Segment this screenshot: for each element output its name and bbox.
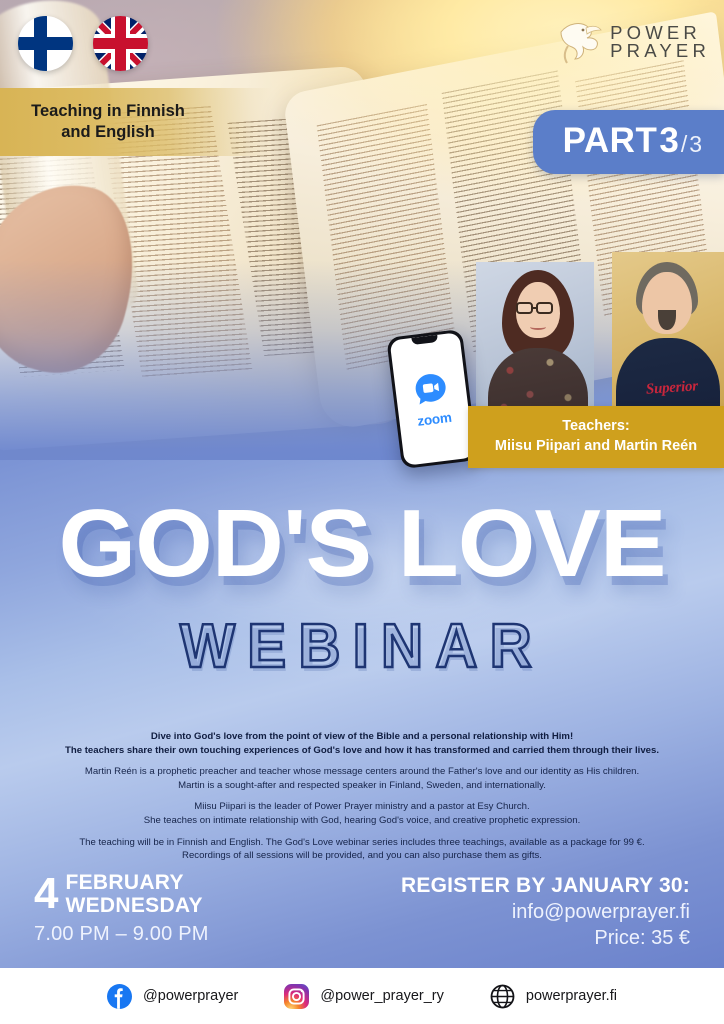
finland-flag-icon bbox=[18, 16, 73, 71]
part-badge-total: 3 bbox=[689, 131, 702, 158]
power-prayer-logo: POWER PRAYER bbox=[552, 16, 710, 68]
desc-p3-line2: She teaches on intimate relationship wit… bbox=[144, 815, 580, 826]
teacher-photo-martin: Superior bbox=[612, 252, 724, 422]
dove-icon bbox=[552, 16, 604, 68]
part-badge-number: 3 bbox=[659, 121, 678, 161]
footer-item-instagram[interactable]: @power_prayer_ry bbox=[284, 984, 444, 1009]
desc-p2-line2: Martin is a sought-after and respected s… bbox=[178, 780, 546, 791]
zoom-video-icon bbox=[412, 370, 450, 408]
logo-line-2: PRAYER bbox=[610, 42, 710, 61]
glasses-right-lens bbox=[536, 302, 553, 314]
teachers-banner-names: Miisu Piipari and Martin Reén bbox=[495, 437, 697, 457]
uk-flag-icon bbox=[93, 16, 148, 71]
event-info-row: 4 FEBRUARY WEDNESDAY 7.00 PM – 9.00 PM R… bbox=[0, 872, 724, 954]
event-day-number: 4 bbox=[34, 875, 58, 913]
instagram-icon bbox=[284, 984, 309, 1009]
power-prayer-wordmark: POWER PRAYER bbox=[610, 24, 710, 61]
desc-p3-line1: Miisu Piipari is the leader of Power Pra… bbox=[194, 801, 529, 812]
zoom-wordmark: zoom bbox=[416, 409, 452, 428]
description-paragraph-3: Miisu Piipari is the leader of Power Pra… bbox=[42, 800, 682, 827]
event-time: 7.00 PM – 9.00 PM bbox=[34, 923, 209, 946]
teaching-language-label: Teaching in Finnish and English bbox=[18, 101, 198, 143]
facebook-icon bbox=[107, 984, 132, 1009]
desc-p4-line2: Recordings of all sessions will be provi… bbox=[182, 850, 542, 861]
description-paragraph-4: The teaching will be in Finnish and Engl… bbox=[42, 836, 682, 863]
registration-deadline: REGISTER BY JANUARY 30: bbox=[401, 872, 690, 899]
language-flags bbox=[18, 16, 148, 71]
registration-price: Price: 35 € bbox=[401, 925, 690, 951]
glasses-left-lens bbox=[516, 302, 533, 314]
teacher-photo-miisu bbox=[476, 262, 594, 422]
webinar-poster: Teaching in Finnish and English POWER PR… bbox=[0, 0, 724, 1024]
part-badge-label: PART bbox=[563, 121, 658, 161]
desc-p4-line1: The teaching will be in Finnish and Engl… bbox=[79, 837, 644, 848]
instagram-handle: @power_prayer_ry bbox=[320, 988, 444, 1004]
hoodie-graphic: Superior bbox=[645, 378, 698, 399]
globe-icon bbox=[490, 984, 515, 1009]
part-badge-separator: / bbox=[681, 131, 687, 158]
teachers-banner: Teachers: Miisu Piipari and Martin Reén bbox=[468, 406, 724, 468]
social-footer: @powerprayer bbox=[0, 968, 724, 1024]
desc-p1-line1: Dive into God's love from the point of v… bbox=[151, 731, 573, 742]
desc-p2-line1: Martin Reén is a prophetic preacher and … bbox=[85, 766, 639, 777]
facebook-handle: @powerprayer bbox=[143, 988, 238, 1004]
registration-block: REGISTER BY JANUARY 30: info@powerprayer… bbox=[401, 872, 690, 951]
part-badge: PART 3 / 3 bbox=[533, 110, 724, 174]
description-block: Dive into God's love from the point of v… bbox=[42, 730, 682, 863]
website-url: powerprayer.fi bbox=[526, 988, 617, 1004]
page-subtitle: WEBINAR bbox=[22, 616, 703, 678]
teachers-banner-title: Teachers: bbox=[562, 417, 629, 437]
page-title: GOD'S LOVE bbox=[0, 498, 724, 590]
zoom-phone-mockup: zoom bbox=[386, 329, 478, 469]
event-month: FEBRUARY bbox=[65, 872, 202, 893]
desc-p1-line2: The teachers share their own touching ex… bbox=[65, 745, 659, 756]
footer-item-facebook[interactable]: @powerprayer bbox=[107, 984, 238, 1009]
event-date-block: 4 FEBRUARY WEDNESDAY 7.00 PM – 9.00 PM bbox=[34, 872, 209, 946]
footer-item-website[interactable]: powerprayer.fi bbox=[490, 984, 617, 1009]
description-paragraph-1: Dive into God's love from the point of v… bbox=[42, 730, 682, 757]
event-weekday: WEDNESDAY bbox=[65, 895, 202, 916]
registration-email[interactable]: info@powerprayer.fi bbox=[401, 899, 690, 925]
description-paragraph-2: Martin Reén is a prophetic preacher and … bbox=[42, 765, 682, 792]
teaching-language-banner: Teaching in Finnish and English bbox=[0, 88, 272, 156]
phone-notch bbox=[411, 335, 438, 345]
